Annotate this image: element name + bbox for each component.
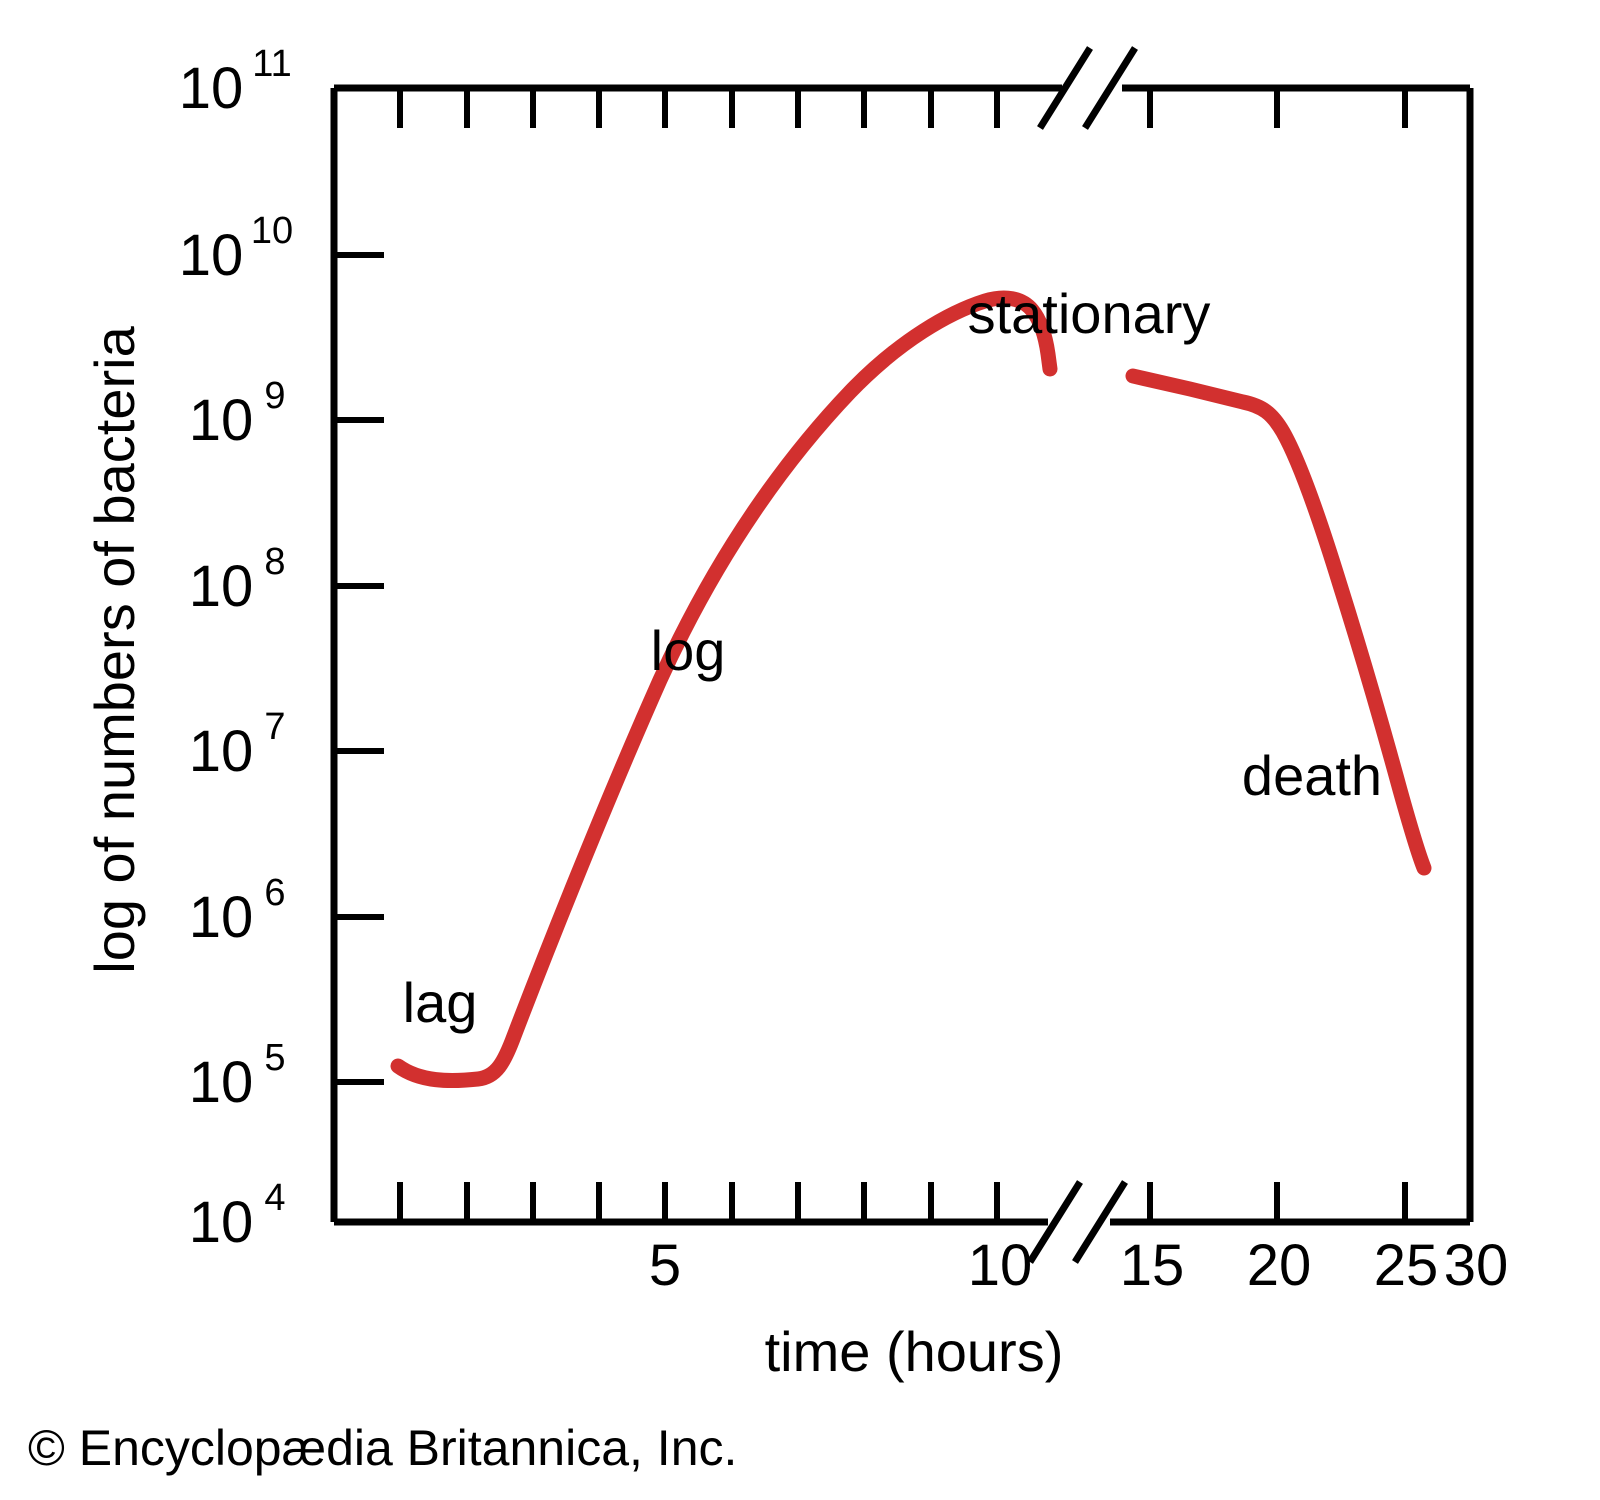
- x-tick-label-15: 15: [1120, 1233, 1185, 1298]
- svg-text:10: 10: [189, 719, 254, 784]
- y-tick-label-1e4: 10 4: [189, 1177, 286, 1255]
- svg-text:7: 7: [264, 706, 285, 748]
- x-tick-label-25: 25: [1374, 1233, 1439, 1298]
- svg-text:10: 10: [179, 56, 244, 121]
- annotation-death: death: [1242, 744, 1382, 807]
- bacterial-growth-chart-figure: 10 11 10 10 10 9 10 8 10 7 10 6: [0, 0, 1600, 1500]
- svg-text:11: 11: [252, 43, 291, 85]
- svg-text:9: 9: [264, 375, 285, 417]
- x-axis-tick-labels: 5 10 15 20 25 30: [649, 1233, 1508, 1298]
- annotation-log: log: [651, 619, 726, 682]
- y-tick-label-1e8: 10 8: [189, 541, 286, 619]
- svg-text:4: 4: [264, 1177, 285, 1219]
- svg-text:10: 10: [189, 388, 254, 453]
- svg-text:10: 10: [189, 1190, 254, 1255]
- copyright-credit: © Encyclopædia Britannica, Inc.: [28, 1420, 737, 1476]
- y-tick-label-1e10: 10 10: [179, 210, 293, 288]
- y-tick-label-1e6: 10 6: [189, 872, 286, 950]
- svg-text:10: 10: [251, 210, 293, 252]
- x-tick-label-10: 10: [968, 1233, 1033, 1298]
- x-axis-ticks-top: [400, 88, 1405, 128]
- y-tick-label-1e11: 10 11: [179, 43, 292, 121]
- svg-text:10: 10: [189, 1050, 254, 1115]
- growth-curve-chart: 10 11 10 10 10 9 10 8 10 7 10 6: [0, 0, 1600, 1500]
- y-axis-title: log of numbers of bacteria: [83, 325, 146, 973]
- svg-text:10: 10: [179, 223, 244, 288]
- svg-text:8: 8: [264, 541, 285, 583]
- annotation-stationary: stationary: [968, 282, 1211, 345]
- y-tick-label-1e5: 10 5: [189, 1037, 286, 1115]
- svg-text:6: 6: [264, 872, 285, 914]
- svg-text:5: 5: [264, 1037, 285, 1079]
- annotation-lag: lag: [403, 971, 478, 1034]
- x-axis-title: time (hours): [765, 1320, 1064, 1383]
- y-tick-label-1e7: 10 7: [189, 706, 286, 784]
- x-tick-label-30: 30: [1444, 1233, 1509, 1298]
- x-tick-label-5: 5: [649, 1233, 681, 1298]
- y-axis-ticks: [334, 255, 384, 1082]
- svg-text:10: 10: [189, 554, 254, 619]
- x-tick-label-20: 20: [1247, 1233, 1312, 1298]
- y-axis-tick-labels: 10 11 10 10 10 9 10 8 10 7 10 6: [179, 43, 293, 1255]
- growth-curve-segment-1: [398, 298, 1050, 1081]
- y-tick-label-1e9: 10 9: [189, 375, 286, 453]
- svg-text:10: 10: [189, 885, 254, 950]
- x-axis-ticks-bottom: [400, 1182, 1405, 1222]
